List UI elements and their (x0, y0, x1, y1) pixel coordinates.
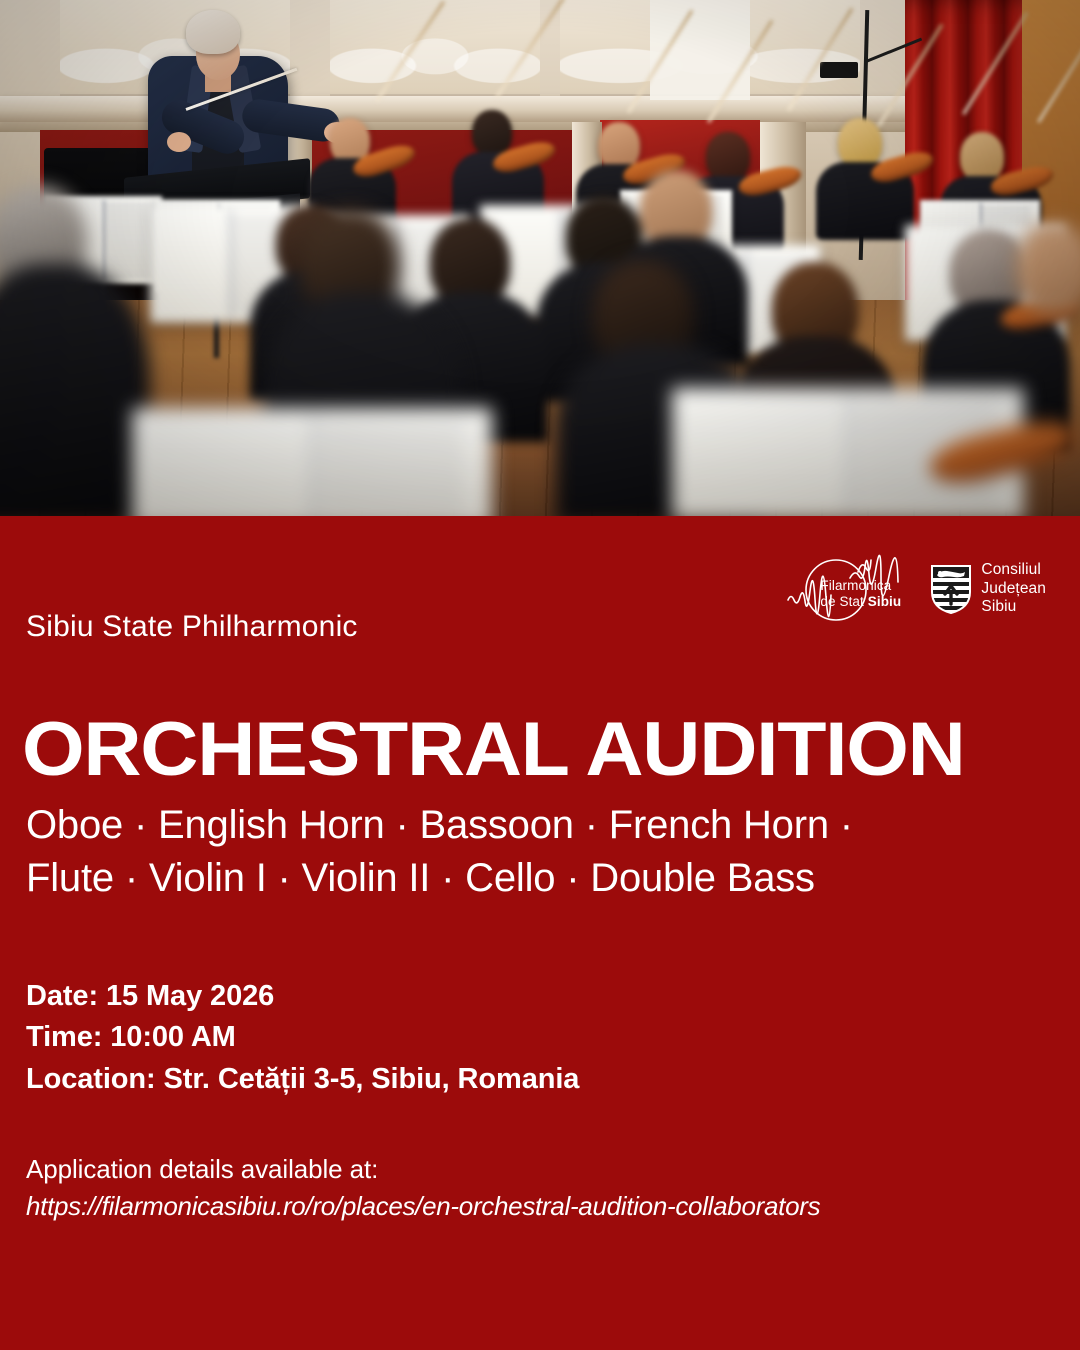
event-details: Date: 15 May 2026 Time: 10:00 AM Locatio… (26, 976, 579, 1100)
county-council-logo: Consiliul Județean Sibiu (930, 561, 1046, 618)
audition-poster: Filarmonica de Stat Sibiu (0, 0, 1080, 1350)
filarmonica-logo: Filarmonica de Stat Sibiu (784, 550, 912, 628)
event-time: Time: 10:00 AM (26, 1017, 579, 1058)
musician-head (1016, 222, 1080, 314)
application-label: Application details available at: (26, 1151, 820, 1188)
filarmonica-logo-text: Filarmonica de Stat Sibiu (820, 578, 912, 610)
logo-row: Filarmonica de Stat Sibiu (784, 550, 1046, 628)
page-title: ORCHESTRAL AUDITION (22, 712, 965, 788)
filarmonica-line2-bold: Sibiu (868, 594, 902, 609)
application-url[interactable]: https://filarmonicasibiu.ro/ro/places/en… (26, 1188, 820, 1225)
event-location: Location: Str. Cetății 3-5, Sibiu, Roman… (26, 1059, 579, 1100)
filarmonica-line1: Filarmonica (820, 578, 912, 594)
filarmonica-line2-prefix: de Stat (820, 594, 867, 609)
filarmonica-line2: de Stat Sibiu (820, 594, 912, 610)
musician-head (960, 132, 1004, 182)
conductor-left-hand (167, 132, 191, 152)
county-council-line2: Județean (981, 580, 1046, 599)
instruments-line-2: Flute · Violin I · Violin II · Cello · D… (26, 852, 1016, 905)
musician-back (0, 264, 150, 516)
county-council-text: Consiliul Județean Sibiu (981, 561, 1046, 618)
microphone-mount (820, 62, 858, 78)
poster-content: Filarmonica de Stat Sibiu (0, 518, 1080, 1350)
sibiu-county-coat-of-arms-shield-icon (930, 564, 972, 614)
musician-head (706, 132, 750, 182)
orchestra-photo (0, 0, 1080, 516)
county-council-line3: Sibiu (981, 598, 1046, 617)
conductor-hair (186, 10, 240, 54)
county-council-line1: Consiliul (981, 561, 1046, 580)
music-stand-sheet (132, 408, 492, 516)
event-date: Date: 15 May 2026 (26, 976, 579, 1017)
musician-head (838, 118, 882, 168)
instruments-list: Oboe · English Horn · Bassoon · French H… (26, 799, 1016, 905)
application-info: Application details available at: https:… (26, 1151, 820, 1225)
musician-head (472, 110, 512, 156)
organization-name: Sibiu State Philharmonic (26, 610, 358, 644)
instruments-line-1: Oboe · English Horn · Bassoon · French H… (26, 799, 1016, 852)
